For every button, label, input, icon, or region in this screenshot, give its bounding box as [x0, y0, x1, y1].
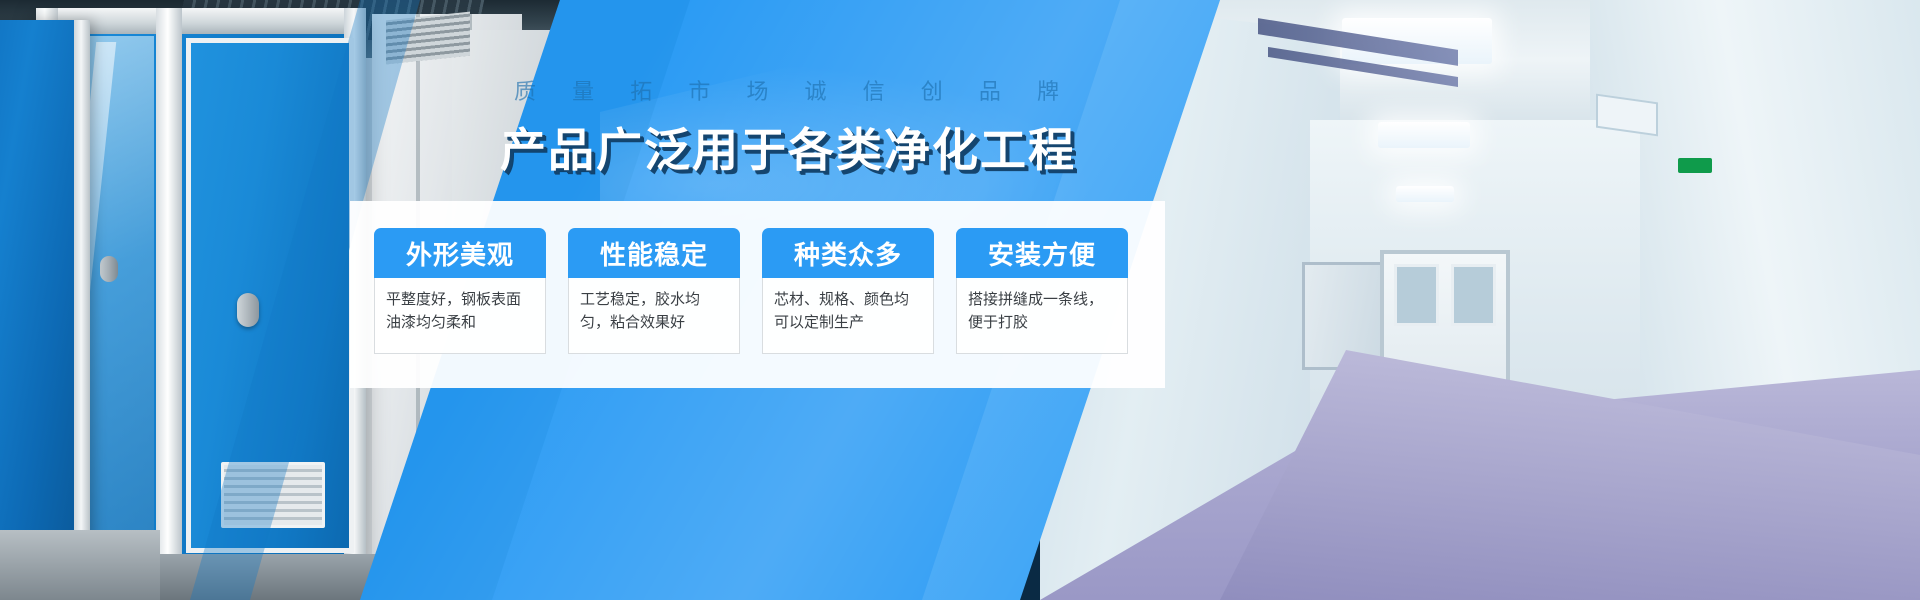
feature-card-panel: 外形美观 平整度好，钢板表面油漆均匀柔和 性能稳定 工艺稳定，胶水均匀，粘合效果…	[350, 201, 1165, 388]
feature-card-2-title: 性能稳定	[568, 228, 740, 278]
feature-card-2-text: 工艺稳定，胶水均匀，粘合效果好	[568, 278, 740, 354]
feature-card-3[interactable]: 种类众多 芯材、规格、颜色均可以定制生产	[762, 228, 934, 354]
feature-card-4[interactable]: 安装方便 搭接拼缝成一条线，便于打胶	[956, 228, 1128, 354]
banner-headline: 产品广泛用于各类净化工程	[500, 114, 1076, 180]
feature-card-4-text: 搭接拼缝成一条线，便于打胶	[956, 278, 1128, 354]
feature-card-1[interactable]: 外形美观 平整度好，钢板表面油漆均匀柔和	[374, 228, 546, 354]
feature-card-4-title: 安装方便	[956, 228, 1128, 278]
feature-card-1-title: 外形美观	[374, 228, 546, 278]
feature-card-3-text: 芯材、规格、颜色均可以定制生产	[762, 278, 934, 354]
banner-tagline: 质 量 拓 市 场 诚 信 创 品 牌	[514, 74, 1134, 106]
banner-stage: 质 量 拓 市 场 诚 信 创 品 牌 产品广泛用于各类净化工程 外形美观 平整…	[0, 0, 1920, 600]
feature-card-1-text: 平整度好，钢板表面油漆均匀柔和	[374, 278, 546, 354]
feature-card-3-title: 种类众多	[762, 228, 934, 278]
feature-card-2[interactable]: 性能稳定 工艺稳定，胶水均匀，粘合效果好	[568, 228, 740, 354]
